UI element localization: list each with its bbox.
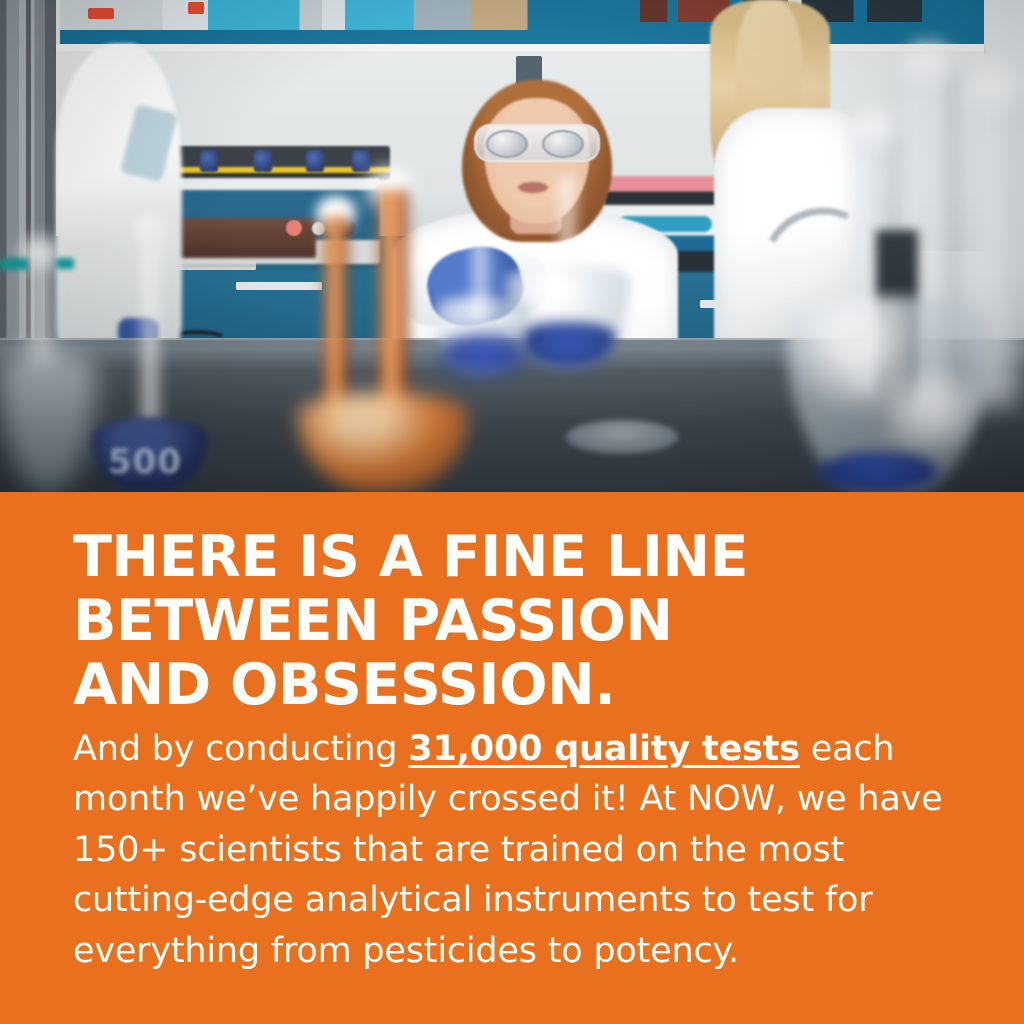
headline-line-3: AND OBSESSION. (73, 654, 953, 718)
goggle-lens-left (486, 130, 528, 158)
body-lead-text: And by conducting (73, 729, 408, 769)
blue-solution-center-2 (440, 334, 526, 376)
orange-text-band: THERE IS A FINE LINE BETWEEN PASSION AND… (0, 492, 1024, 1024)
mouth (518, 182, 548, 193)
teal-label-band-a (0, 258, 28, 270)
body-copy: And by conducting 31,000 quality tests e… (73, 724, 953, 976)
instrument-button (286, 220, 302, 236)
stat-highlight-quality-tests: 31,000 quality tests (408, 729, 799, 769)
amber-flask-neck-2 (376, 190, 410, 416)
headline-line-2: BETWEEN PASSION (73, 590, 953, 654)
cylinder-cap-1 (904, 44, 954, 84)
page-title: THERE IS A FINE LINE BETWEEN PASSION AND… (73, 526, 953, 717)
blue-solution-right (818, 452, 938, 492)
watch-glass (566, 420, 678, 454)
upper-shelf-contents (60, 0, 630, 30)
flask-neck-500 (138, 226, 162, 422)
sample-vial (254, 150, 272, 172)
sample-vial (200, 150, 218, 172)
sample-vial (306, 150, 324, 172)
teal-label-band-b (56, 258, 74, 269)
flask-volume-label: 500 (108, 442, 182, 482)
scientist-left (56, 44, 182, 364)
cylinder-cap-2 (970, 66, 1022, 108)
lab-photo: 500 (0, 0, 1024, 492)
drawer-handle-2 (236, 282, 322, 290)
shelf-red-box-2 (188, 2, 204, 14)
cylinder-cap-3 (852, 110, 896, 146)
flask-stopper-500 (132, 214, 168, 244)
goggle-lens-right (542, 130, 584, 158)
sample-vial (352, 150, 370, 172)
social-graphic-canvas: 500 THERE IS A FINE LINE BETWEEN PASSION… (0, 0, 1024, 1024)
headline-line-1: THERE IS A FINE LINE (73, 526, 953, 590)
shelf-red-box-1 (88, 8, 114, 19)
